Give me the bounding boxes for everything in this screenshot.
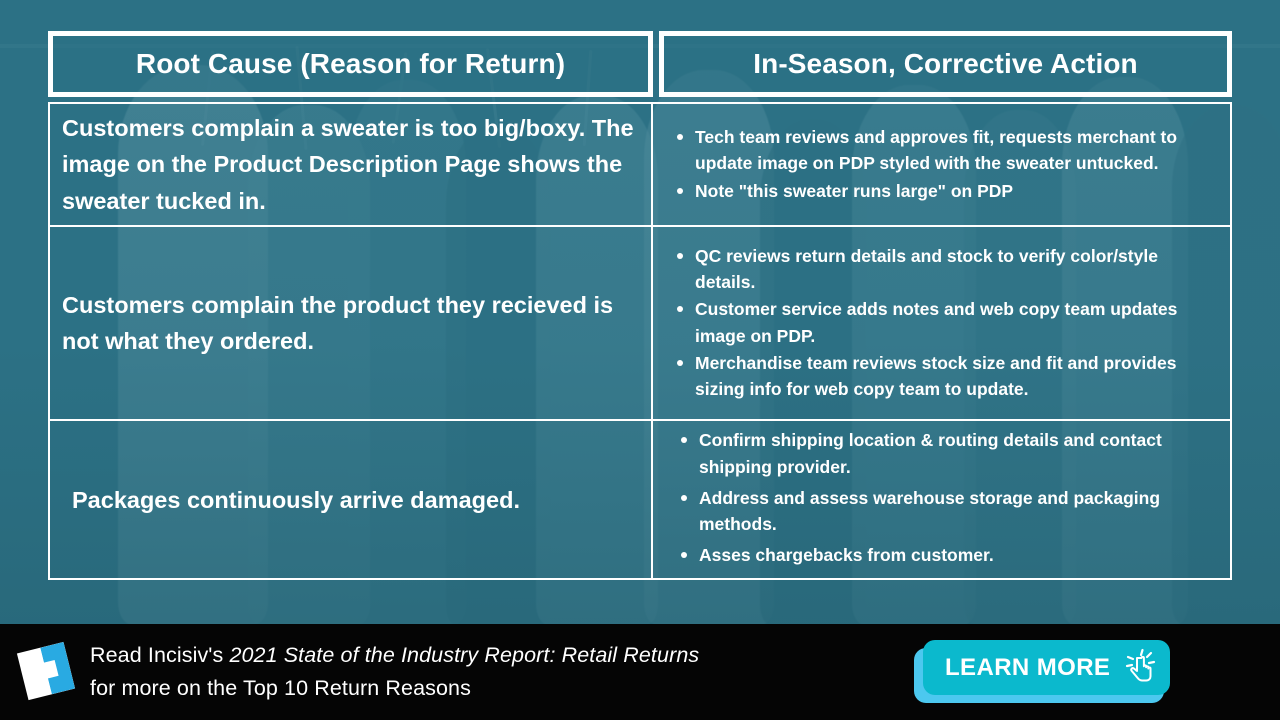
- list-item: Asses chargebacks from customer.: [679, 542, 1214, 568]
- corrective-action-cell: Confirm shipping location & routing deta…: [653, 421, 1230, 580]
- banner-line-2: for more on the Top 10 Return Reasons: [90, 672, 699, 705]
- list-item: Merchandise team reviews stock size and …: [675, 350, 1214, 403]
- action-list: Tech team reviews and approves fit, requ…: [675, 124, 1214, 205]
- root-cause-cell: Packages continuously arrive damaged.: [50, 421, 653, 580]
- table-header-row: Root Cause (Reason for Return) In-Season…: [48, 31, 1232, 97]
- learn-more-button[interactable]: LEARN MORE: [914, 640, 1170, 702]
- corrective-action-cell: Tech team reviews and approves fit, requ…: [653, 104, 1230, 225]
- list-item: Address and assess warehouse storage and…: [679, 485, 1214, 538]
- table-row: Customers complain a sweater is too big/…: [50, 102, 1230, 225]
- banner-text: Read Incisiv's 2021 State of the Industr…: [90, 639, 699, 706]
- banner-line-1: Read Incisiv's 2021 State of the Industr…: [90, 639, 699, 672]
- table-body: Customers complain a sweater is too big/…: [48, 102, 1232, 580]
- table-row: Packages continuously arrive damaged. Co…: [50, 419, 1230, 580]
- list-item: QC reviews return details and stock to v…: [675, 243, 1214, 296]
- slide-canvas: Root Cause (Reason for Return) In-Season…: [0, 0, 1280, 720]
- action-list: Confirm shipping location & routing deta…: [679, 427, 1214, 573]
- bottom-banner: Read Incisiv's 2021 State of the Industr…: [0, 624, 1280, 720]
- learn-more-label: LEARN MORE: [945, 654, 1110, 682]
- root-cause-cell: Customers complain the product they reci…: [50, 227, 653, 419]
- banner-report-title: 2021 State of the Industry Report: Retai…: [229, 643, 699, 667]
- list-item: Confirm shipping location & routing deta…: [679, 427, 1214, 480]
- action-list: QC reviews return details and stock to v…: [675, 243, 1214, 404]
- table-row: Customers complain the product they reci…: [50, 225, 1230, 419]
- root-cause-action-table: Root Cause (Reason for Return) In-Season…: [48, 31, 1232, 580]
- list-item: Note "this sweater runs large" on PDP: [675, 178, 1214, 204]
- list-item: Tech team reviews and approves fit, requ…: [675, 124, 1214, 177]
- tap-cursor-icon: [1118, 648, 1158, 688]
- incisiv-logo-icon: [14, 641, 76, 703]
- root-cause-cell: Customers complain a sweater is too big/…: [50, 104, 653, 225]
- corrective-action-cell: QC reviews return details and stock to v…: [653, 227, 1230, 419]
- banner-line-1-prefix: Read Incisiv's: [90, 643, 229, 667]
- column-header-root-cause: Root Cause (Reason for Return): [48, 31, 653, 97]
- column-header-corrective-action: In-Season, Corrective Action: [659, 31, 1232, 97]
- list-item: Customer service adds notes and web copy…: [675, 296, 1214, 349]
